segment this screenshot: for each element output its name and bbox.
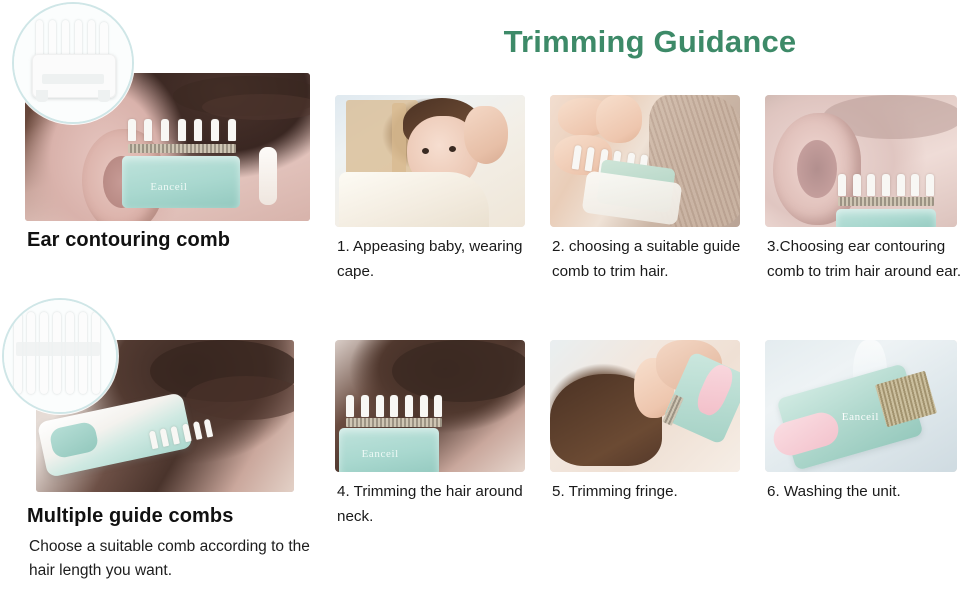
step-photo-5 [550, 340, 740, 472]
step-caption-6: 6. Washing the unit. [767, 480, 962, 505]
brand-mark-6: Eanceil [842, 411, 879, 423]
step-photo-3 [765, 95, 957, 227]
inset-circle-ear-comb [12, 2, 134, 124]
comb-teeth [128, 119, 236, 141]
multiple-guide-combs-icon [12, 312, 108, 398]
step-caption-3: 3.Choosing ear contouring comb to trim h… [767, 235, 967, 284]
page-title: Trimming Guidance [470, 24, 830, 60]
brand-mark-1: Eanceil [150, 181, 187, 193]
step-caption-4: 4. Trimming the hair around neck. [337, 480, 527, 529]
step-caption-1: 1. Appeasing baby, wearing cape. [337, 235, 527, 284]
ear-contouring-comb-icon [32, 20, 116, 106]
step-caption-5: 5. Trimming fringe. [552, 480, 742, 505]
feature-heading-guide-combs: Multiple guide combs [27, 505, 233, 528]
step-photo-2 [550, 95, 740, 227]
step-photo-1 [335, 95, 525, 227]
feature-subtext-guide-combs: Choose a suitable comb according to the … [29, 535, 329, 583]
step-photo-6: Eanceil [765, 340, 957, 472]
step-caption-2: 2. choosing a suitable guide comb to tri… [552, 235, 747, 284]
inset-circle-guide-combs [2, 298, 118, 414]
infographic-page: Trimming Guidance Eanceil [0, 0, 970, 600]
feature-heading-ear-comb: Ear contouring comb [27, 229, 230, 252]
step-photo-4: Eanceil [335, 340, 525, 472]
brand-mark-4: Eanceil [362, 448, 399, 460]
